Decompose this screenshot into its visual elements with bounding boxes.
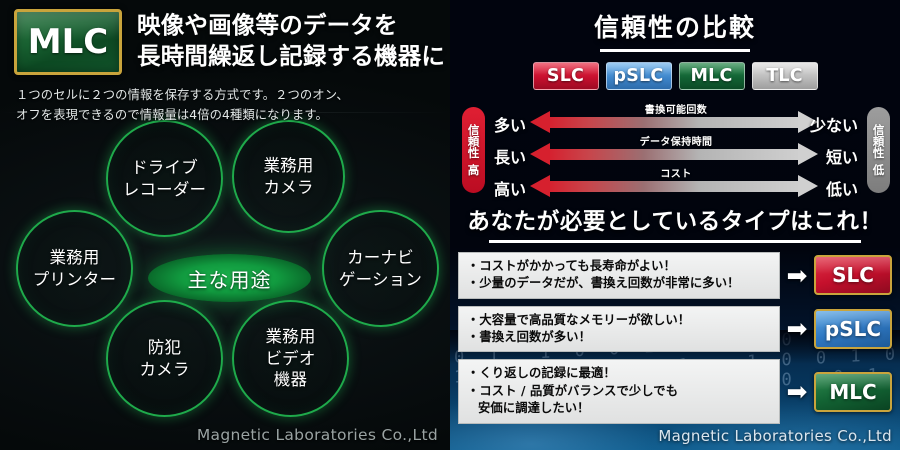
left-headline: 映像や画像等のデータを 長時間繰返し記録する機器に [137, 10, 445, 73]
reliability-title-underline [600, 49, 750, 52]
recommendation-text-box: ・大容量で高品質なメモリーが欲しい！ ・書換え回数が多い！ [458, 306, 780, 353]
right-arrow-icon: ➡ [780, 316, 814, 341]
bubble-label: 業務用 [33, 247, 117, 268]
arrow-left-head-icon [530, 111, 550, 133]
scale-axis-retention: データ保持時間 長い 短い [494, 136, 858, 166]
bubble-label: ビデオ [265, 348, 315, 369]
use-case-bubble-security-camera: 防犯 カメラ [106, 300, 223, 417]
mlc-logo-label: MLC [28, 25, 108, 59]
recommendation-line: ・コスト / 品質がバランスで少しでも [467, 383, 771, 400]
chip-label: pSLC [825, 317, 881, 341]
left-footer-company: Magnetic Laboratories Co.,Ltd [197, 426, 438, 444]
recommendation-title-underline [489, 240, 861, 243]
arrow-right-head-icon [798, 175, 818, 197]
axis-bar [548, 181, 800, 192]
recommendation-row-slc: ・コストがかかっても長寿命がよい！ ・少量のデータだが、書換え回数が非常に多い！… [458, 252, 892, 299]
bubble-label: カメラ [263, 177, 313, 198]
left-header: MLC 映像や画像等のデータを 長時間繰返し記録する機器に [0, 0, 450, 75]
left-panel: MLC 映像や画像等のデータを 長時間繰返し記録する機器に １つのセルに２つの情… [0, 0, 450, 450]
axis-bar [548, 149, 800, 160]
bubble-label: カーナビ [339, 247, 422, 268]
scale-pill-high: 信頼性 高 [462, 107, 485, 193]
recommendation-line: ・大容量で高品質なメモリーが欲しい！ [467, 312, 771, 329]
axis-right-label: 低い [826, 176, 858, 200]
chip-label: SLC [832, 263, 874, 287]
memory-type-chip-row: SLC pSLC MLC TLC [450, 62, 900, 90]
recommendation-line: 安価に調達したい！ [467, 400, 771, 417]
recommendation-chip-pslc: pSLC [814, 309, 892, 349]
chip-tlc: TLC [752, 62, 818, 90]
recommendation-line: ・くり返しの記録に最適！ [467, 365, 771, 382]
axis-left-label: 高い [494, 176, 526, 200]
bubble-label: 機器 [265, 369, 315, 390]
left-description-line1: １つのセルに２つの情報を保存する方式です。２つのオン、 [16, 86, 450, 106]
left-headline-line2: 長時間繰返し記録する機器に [137, 41, 445, 72]
bubble-label: ドライブ [123, 157, 207, 178]
chip-mlc: MLC [679, 62, 745, 90]
right-arrow-icon: ➡ [780, 379, 814, 404]
scale-pill-high-level: 高 [468, 164, 480, 176]
bubble-label: 業務用 [265, 326, 315, 347]
arrow-left-head-icon [530, 175, 550, 197]
chip-label: TLC [766, 66, 803, 86]
recommendation-line: ・少量のデータだが、書換え回数が非常に多い！ [467, 275, 771, 292]
bubble-label: 業務用 [263, 155, 313, 176]
chip-pslc: pSLC [606, 62, 672, 90]
arrow-right-head-icon [798, 143, 818, 165]
use-case-bubble-car-navigation: カーナビ ゲーション [322, 210, 439, 327]
use-case-bubble-business-video-equipment: 業務用 ビデオ 機器 [232, 300, 349, 417]
bubble-label: カメラ [139, 359, 189, 380]
bubble-label: レコーダー [123, 179, 207, 200]
recommendation-row-mlc: ・くり返しの記録に最適！ ・コスト / 品質がバランスで少しでも 安価に調達した… [458, 359, 892, 423]
right-arrow-icon: ➡ [780, 263, 814, 288]
scale-pill-low-level: 低 [873, 164, 885, 176]
chip-slc: SLC [533, 62, 599, 90]
recommendation-title: あなたが必要としているタイプはこれ！ [450, 204, 900, 236]
right-panel: 0 1 1 0 0 1 0 1 0 1 1 0 0 1 0 1 1 0 0 1 … [450, 0, 900, 450]
left-description: １つのセルに２つの情報を保存する方式です。２つのオン、 オフを表現できるので情報… [16, 86, 450, 126]
use-case-diagram: ドライブ レコーダー 業務用 カメラ カーナビ ゲーション 業務用 [0, 118, 450, 418]
chip-label: MLC [829, 380, 876, 404]
left-description-line2: オフを表現できるので情報量は4倍の4種類になります。 [16, 106, 450, 126]
poster-root: MLC 映像や画像等のデータを 長時間繰返し記録する機器に １つのセルに２つの情… [0, 0, 900, 450]
recommendation-chip-mlc: MLC [814, 372, 892, 412]
mlc-logo-badge: MLC [14, 9, 122, 75]
scale-axis-cost: コスト 高い 低い [494, 168, 858, 198]
chip-label: pSLC [614, 66, 664, 86]
use-case-bubble-business-camera: 業務用 カメラ [232, 120, 345, 233]
scale-pill-low-title: 信頼性 [872, 124, 884, 159]
recommendation-chip-slc: SLC [814, 255, 892, 295]
axis-bar [548, 117, 800, 128]
recommendation-row-pslc: ・大容量で高品質なメモリーが欲しい！ ・書換え回数が多い！ ➡ pSLC [458, 306, 892, 353]
scale-pill-high-title: 信頼性 [467, 124, 479, 159]
reliability-scale: 信頼性 高 信頼性 低 書換可能回数 多い 少ない データ保持時間 長い [450, 102, 900, 198]
reliability-title: 信頼性の比較 [450, 0, 900, 44]
recommendation-list: ・コストがかかっても長寿命がよい！ ・少量のデータだが、書換え回数が非常に多い！… [450, 252, 900, 424]
use-case-bubble-business-printer: 業務用 プリンター [16, 210, 133, 327]
chip-label: SLC [547, 66, 584, 86]
recommendation-line: ・書換え回数が多い！ [467, 329, 771, 346]
arrow-left-head-icon [530, 143, 550, 165]
left-headline-line1: 映像や画像等のデータを [137, 10, 445, 41]
recommendation-text-box: ・くり返しの記録に最適！ ・コスト / 品質がバランスで少しでも 安価に調達した… [458, 359, 780, 423]
use-case-bubble-drive-recorder: ドライブ レコーダー [106, 120, 223, 237]
bubble-label: 防犯 [139, 337, 189, 358]
scale-pill-low: 信頼性 低 [867, 107, 890, 193]
bubble-label: ゲーション [339, 269, 422, 290]
right-footer-company: Magnetic Laboratories Co.,Ltd [658, 427, 892, 445]
scale-axis-write-cycles: 書換可能回数 多い 少ない [494, 104, 858, 134]
recommendation-line: ・コストがかかっても長寿命がよい！ [467, 258, 771, 275]
recommendation-text-box: ・コストがかかっても長寿命がよい！ ・少量のデータだが、書換え回数が非常に多い！ [458, 252, 780, 299]
use-case-center-label: 主な用途 [148, 254, 311, 302]
bubble-label: プリンター [33, 269, 117, 290]
chip-label: MLC [690, 66, 732, 86]
